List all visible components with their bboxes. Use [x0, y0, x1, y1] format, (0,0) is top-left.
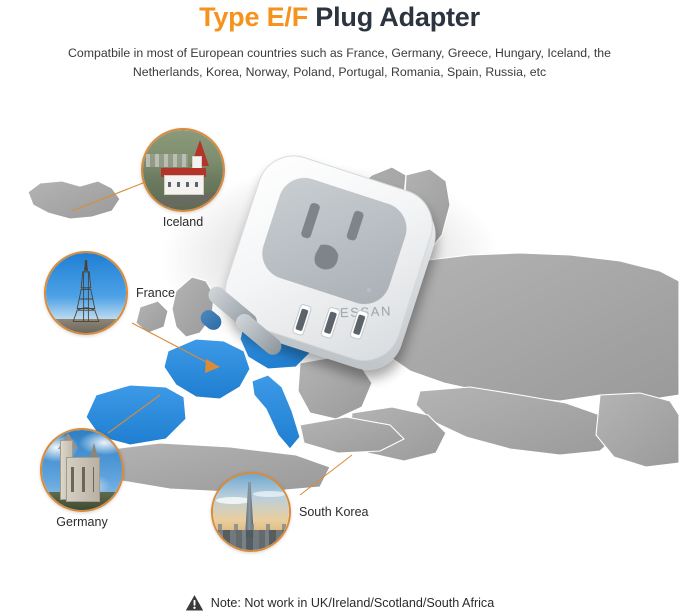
page-title: Type E/F Plug Adapter	[0, 2, 679, 33]
germany-label: Germany	[40, 515, 124, 529]
infographic-canvas: Type E/F Plug Adapter Compatbile in most…	[0, 0, 679, 616]
map-central-asia	[416, 387, 620, 455]
france-label: France	[136, 286, 175, 300]
map-iceland	[28, 181, 120, 219]
france-photo-circle[interactable]	[44, 251, 128, 335]
germany-photo-circle[interactable]	[40, 428, 124, 512]
callout-germany[interactable]: Germany	[40, 428, 124, 512]
callout-south-korea[interactable]: South Korea	[211, 472, 291, 552]
lichtenstein-castle-icon	[42, 430, 122, 510]
footer-note: Note: Not work in UK/Ireland/Scotland/So…	[0, 594, 679, 612]
south-korea-photo-circle[interactable]	[211, 472, 291, 552]
travel-adapter-product: TESSAN	[196, 150, 496, 390]
plug-pin-tip	[197, 307, 224, 333]
map-north-africa	[88, 443, 330, 493]
title-accent: Type E/F	[199, 2, 308, 32]
footer-note-text: Note: Not work in UK/Ireland/Scotland/So…	[211, 596, 495, 610]
warning-triangle-icon	[185, 594, 204, 612]
seoul-skyline-icon	[213, 474, 289, 550]
callout-france[interactable]: France	[44, 251, 128, 335]
map-asia-east	[596, 393, 679, 467]
south-korea-label: South Korea	[299, 505, 369, 519]
adapter-body: TESSAN	[214, 147, 448, 379]
eiffel-tower-icon	[46, 253, 126, 333]
title-rest: Plug Adapter	[308, 2, 480, 32]
subtitle-text: Compatbile in most of European countries…	[0, 44, 679, 82]
